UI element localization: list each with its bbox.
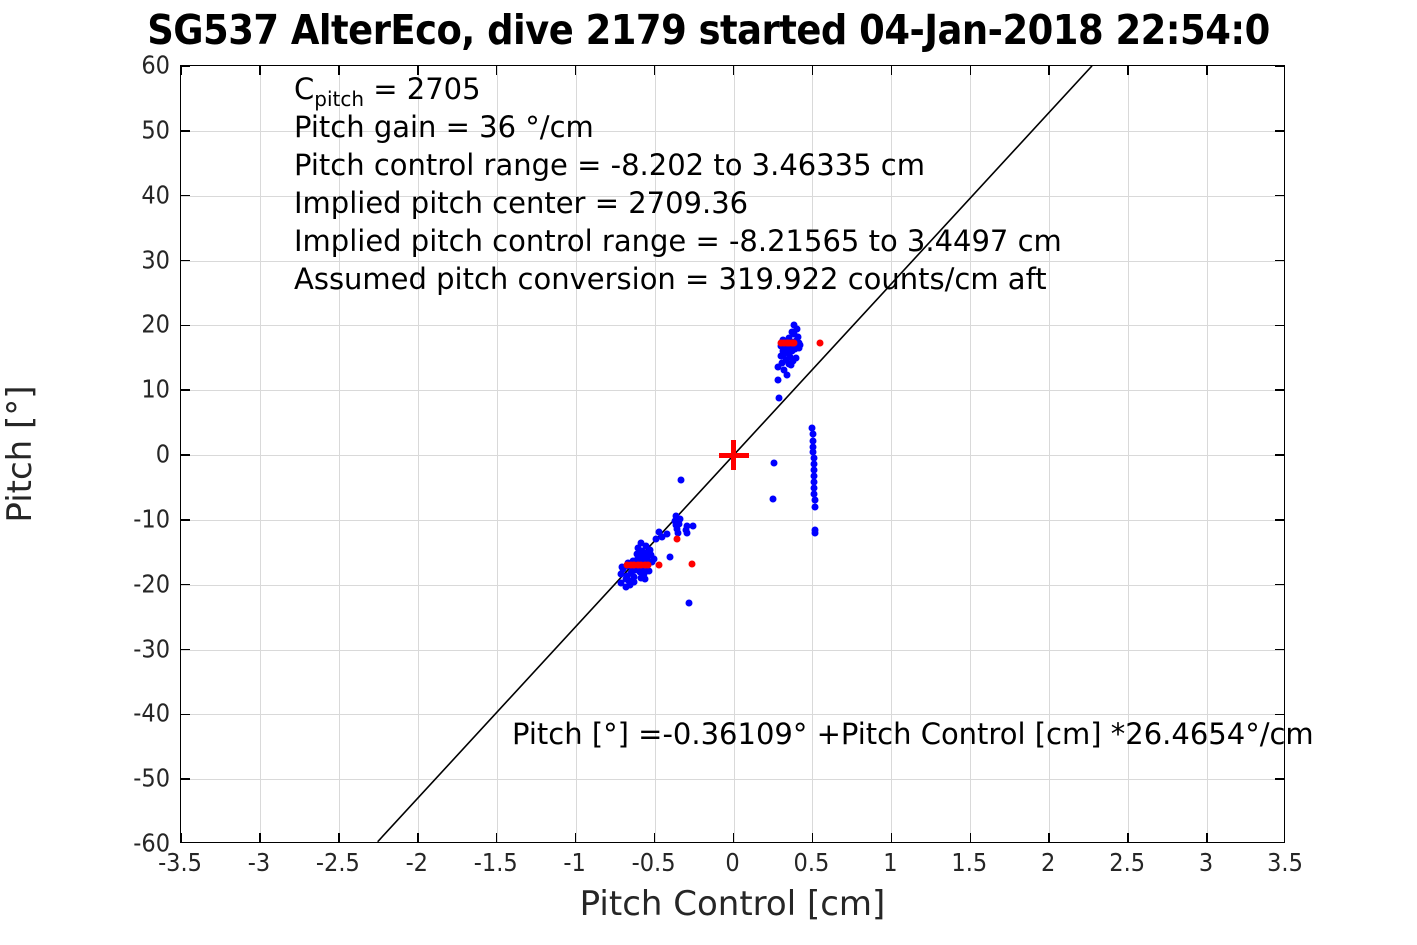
data-point [673, 536, 680, 543]
annotation-cpitch-prefix: C [294, 72, 314, 106]
page-title: SG537 AlterEco, dive 2179 started 04-Jan… [0, 8, 1417, 52]
y-axis-tick [181, 260, 190, 262]
annotation-line-pitch-control-range: Pitch control range = -8.202 to 3.46335 … [294, 146, 1062, 184]
x-tick-label: -0.5 [632, 848, 676, 877]
y-axis-tick [1275, 584, 1284, 586]
x-axis-tick [733, 833, 735, 842]
data-point [642, 576, 649, 583]
annotation-line-implied-pitch-control-range: Implied pitch control range = -8.21565 t… [294, 222, 1062, 260]
y-axis-tick [181, 649, 190, 651]
data-point [769, 496, 776, 503]
y-axis-tick [1275, 66, 1284, 67]
data-point [774, 377, 781, 384]
data-point [664, 531, 671, 538]
annotation-cpitch-value: = 2705 [364, 72, 481, 106]
y-axis-tick [1275, 130, 1284, 132]
gridline-horizontal [181, 650, 1284, 651]
data-point [645, 562, 652, 569]
y-axis-tick [1275, 519, 1284, 521]
x-axis-tick [812, 833, 814, 842]
data-point [776, 394, 783, 401]
annotation-line-assumed-pitch-conversion: Assumed pitch conversion = 319.922 count… [294, 260, 1062, 298]
y-axis-tick [1275, 649, 1284, 651]
annotation-line-implied-pitch-center: Implied pitch center = 2709.36 [294, 184, 1062, 222]
data-point [678, 476, 685, 483]
x-axis-tick [181, 66, 182, 75]
data-point [793, 326, 800, 333]
data-point [809, 430, 816, 437]
x-tick-label: -2.5 [316, 848, 360, 877]
x-axis-label: Pitch Control [cm] [180, 884, 1285, 924]
data-point [816, 340, 823, 347]
x-axis-tick [1206, 66, 1208, 75]
data-point [690, 523, 697, 530]
y-axis-tick [181, 389, 190, 391]
x-axis-tick [1206, 833, 1208, 842]
figure-canvas: SG537 AlterEco, dive 2179 started 04-Jan… [0, 0, 1417, 945]
x-axis-tick [575, 833, 577, 842]
gridline-horizontal [181, 779, 1284, 780]
x-tick-label: 0.5 [794, 848, 830, 877]
y-axis-tick [181, 454, 190, 456]
x-axis-tick [417, 833, 419, 842]
y-axis-tick [181, 584, 190, 586]
x-axis-tick [259, 66, 261, 75]
data-point [685, 599, 692, 606]
y-axis-tick [1275, 778, 1284, 780]
gridline-horizontal [181, 390, 1284, 391]
x-axis-tick [496, 833, 498, 842]
data-point [811, 503, 818, 510]
x-axis-tick [1048, 833, 1050, 842]
data-point [689, 560, 696, 567]
data-point [783, 372, 790, 379]
y-axis-tick [181, 325, 190, 327]
implied-pitch-center-cross-icon [719, 440, 749, 470]
data-point [667, 553, 674, 560]
y-axis-tick [1275, 454, 1284, 456]
x-tick-label: 1 [883, 848, 897, 877]
y-axis-label: Pitch [°] [0, 65, 40, 843]
x-axis-tick [1127, 66, 1129, 75]
gridline-horizontal [181, 520, 1284, 521]
gridline-horizontal [181, 714, 1284, 715]
x-tick-label: -3 [248, 848, 270, 877]
annotation-line-pitch-gain: Pitch gain = 36 °/cm [294, 108, 1062, 146]
fit-equation-label: Pitch [°] =-0.36109° +Pitch Control [cm]… [512, 717, 1314, 751]
x-tick-label: 2 [1041, 848, 1055, 877]
data-point [792, 354, 799, 361]
data-point [812, 530, 819, 537]
y-axis-tick [1275, 260, 1284, 262]
data-point [677, 515, 684, 522]
x-axis-tick [1127, 833, 1129, 842]
x-axis-tick [338, 833, 340, 842]
x-tick-label: -1.5 [474, 848, 518, 877]
y-axis-tick [1275, 389, 1284, 391]
gridline-horizontal [181, 585, 1284, 586]
data-point [790, 340, 797, 347]
gridline-vertical [260, 66, 261, 842]
x-tick-label: -2 [406, 848, 428, 877]
data-point [770, 460, 777, 467]
y-axis-tick [1275, 195, 1284, 197]
annotation-line-cpitch: Cpitch = 2705 [294, 70, 1062, 108]
x-tick-label: 0 [725, 848, 739, 877]
gridline-horizontal [181, 325, 1284, 326]
y-axis-tick [181, 66, 190, 67]
x-tick-label: -1 [563, 848, 585, 877]
data-point [656, 562, 663, 569]
x-tick-label: 3 [1199, 848, 1213, 877]
x-tick-label: 2.5 [1109, 848, 1145, 877]
data-point [797, 341, 804, 348]
x-tick-label: 1.5 [951, 848, 987, 877]
x-axis-tick [970, 833, 972, 842]
x-axis-tick [891, 833, 893, 842]
x-tick-label: 3.5 [1267, 848, 1303, 877]
y-axis-tick [181, 778, 190, 780]
y-axis-tick [1275, 714, 1284, 716]
y-axis-tick [181, 714, 190, 716]
data-point [683, 530, 690, 537]
annotation-block: Cpitch = 2705 Pitch gain = 36 °/cm Pitch… [294, 70, 1062, 298]
y-axis-tick [1275, 325, 1284, 327]
y-axis-tick [181, 195, 190, 197]
x-axis-tick [654, 833, 656, 842]
y-axis-tick [181, 519, 190, 521]
y-axis-tick [181, 130, 190, 132]
x-axis-tick [259, 833, 261, 842]
x-axis-tick [181, 833, 182, 842]
